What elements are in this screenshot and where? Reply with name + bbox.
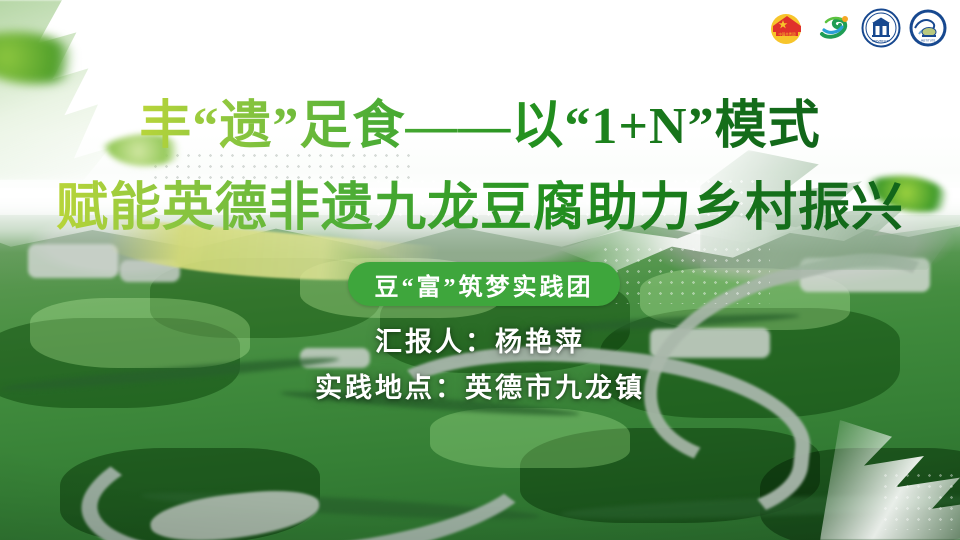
title-slide: 中国共青团 UNIVERSITY (0, 0, 960, 540)
team-name-badge: 豆“富”筑梦实践团 (348, 262, 620, 306)
institute-seal-blue-icon: INSTITUTE (908, 8, 948, 48)
green-swirl-emblem-icon (814, 8, 854, 48)
presenter-line: 汇报人：杨艳萍 (0, 320, 960, 359)
location-line: 实践地点：英德市九龙镇 (0, 366, 960, 405)
communist-youth-league-emblem-icon: 中国共青团 (767, 8, 807, 48)
svg-text:中国共青团: 中国共青团 (779, 31, 797, 36)
page-title-line2: 赋能英德非遗九龙豆腐助力乡村振兴 (0, 178, 960, 240)
svg-text:INSTITUTE: INSTITUTE (921, 39, 936, 43)
logo-row: 中国共青团 UNIVERSITY (767, 8, 948, 48)
page-title-line1: 丰“遗”足食——以“1+N”模式 (0, 96, 960, 158)
svg-text:UNIVERSITY: UNIVERSITY (872, 39, 890, 43)
team-name-label: 豆“富”筑梦实践团 (375, 267, 594, 302)
university-seal-blue-icon: UNIVERSITY (861, 8, 901, 48)
